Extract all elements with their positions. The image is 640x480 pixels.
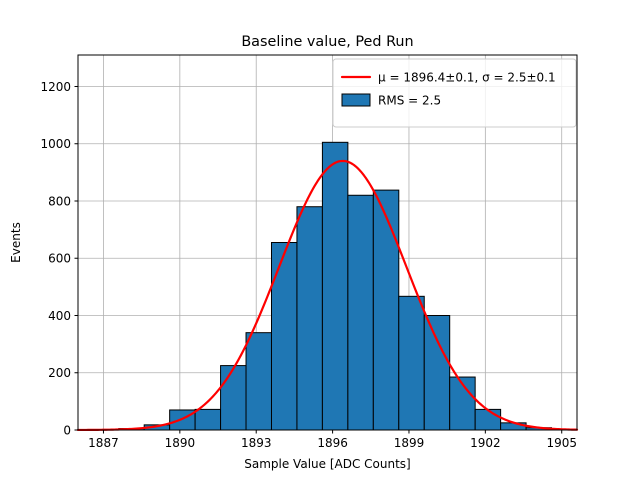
legend-box	[333, 59, 576, 127]
histogram-bar	[246, 333, 271, 430]
y-tick-label: 1200	[40, 80, 71, 94]
histogram-bar	[271, 243, 296, 431]
histogram-bar	[195, 409, 220, 430]
legend-patch-marker	[342, 94, 370, 106]
y-tick-label: 800	[48, 194, 71, 208]
y-tick-label: 200	[48, 366, 71, 380]
y-tick-label: 0	[63, 423, 71, 437]
x-axis-label: Sample Value [ADC Counts]	[244, 457, 410, 471]
y-tick-label: 1000	[40, 137, 71, 151]
x-tick-label: 1890	[165, 436, 196, 450]
x-tick-label: 1899	[394, 436, 425, 450]
chart-canvas: 1887189018931896189919021905 02004006008…	[0, 0, 640, 480]
histogram-bar	[399, 296, 424, 430]
y-tick-label: 600	[48, 252, 71, 266]
x-tick-label: 1893	[241, 436, 272, 450]
histogram-bar	[322, 142, 347, 430]
histogram-bar	[424, 315, 449, 430]
legend-entry-label: μ = 1896.4±0.1, σ = 2.5±0.1	[378, 71, 556, 85]
histogram-bar	[221, 366, 246, 430]
y-axis-label: Events	[9, 222, 23, 263]
chart-legend: μ = 1896.4±0.1, σ = 2.5±0.1RMS = 2.5	[333, 59, 576, 127]
x-tick-label: 1905	[546, 436, 577, 450]
x-tick-label: 1887	[88, 436, 119, 450]
x-tick-label: 1896	[317, 436, 348, 450]
histogram-bar	[475, 409, 500, 430]
matplotlib-figure: 1887189018931896189919021905 02004006008…	[0, 0, 640, 480]
histogram-bar	[348, 195, 373, 430]
histogram-bar	[297, 207, 322, 430]
chart-title: Baseline value, Ped Run	[241, 34, 413, 50]
legend-entry-label: RMS = 2.5	[378, 94, 441, 108]
histogram-bar	[373, 190, 398, 430]
x-tick-label: 1902	[470, 436, 501, 450]
y-tick-label: 400	[48, 309, 71, 323]
